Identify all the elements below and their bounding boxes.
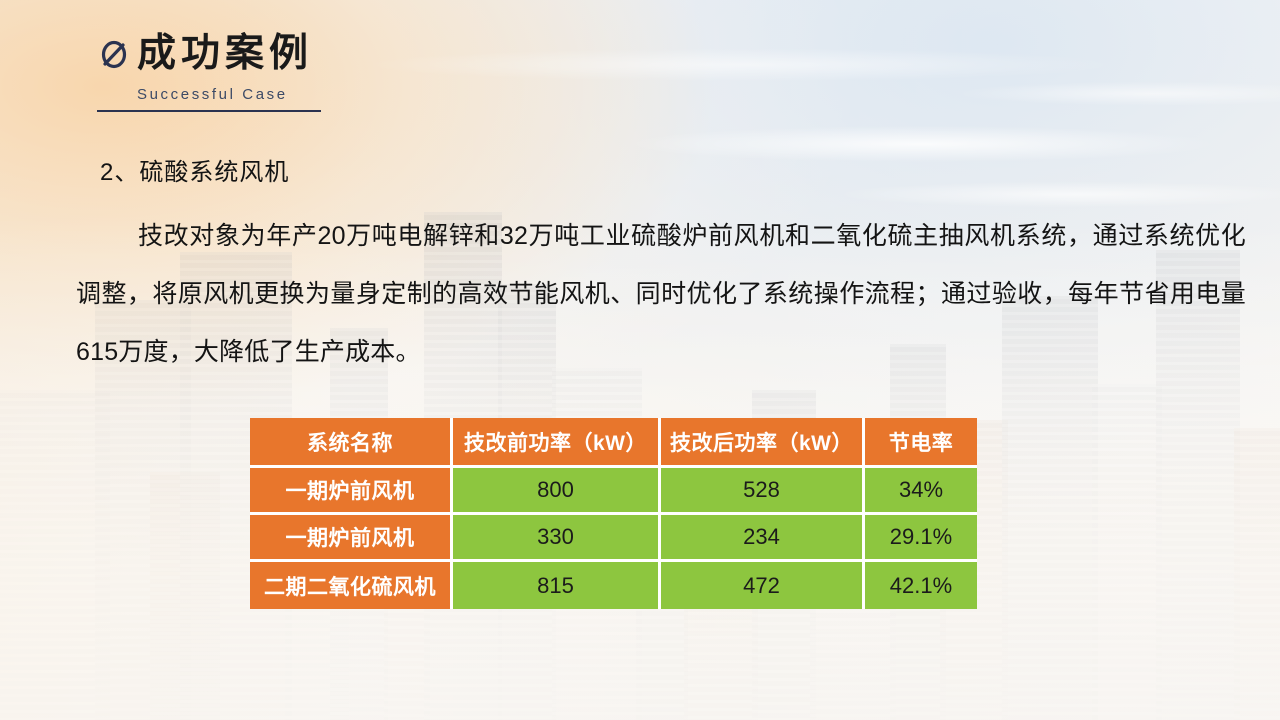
body-paragraph: 技改对象为年产20万吨电解锌和32万吨工业硫酸炉前风机和二氧化硫主抽风机系统，通…: [76, 207, 1246, 381]
column-header-saving-rate: 节电率: [865, 418, 977, 468]
column-header-power-after: 技改后功率（kW）: [661, 418, 865, 468]
cell-saving-rate: 34%: [865, 468, 977, 515]
slide-canvas: 成功案例 Successful Case 2、硫酸系统风机 技改对象为年产20万…: [0, 0, 1280, 720]
cell-system-name: 一期炉前风机: [250, 468, 453, 515]
page-title: 成功案例: [137, 34, 313, 75]
cell-system-name: 二期二氧化硫风机: [250, 562, 453, 609]
cell-power-after: 528: [661, 468, 865, 515]
page-subtitle: Successful Case: [137, 86, 321, 103]
cell-power-before: 815: [453, 562, 661, 609]
title-underline: [97, 110, 321, 112]
cell-system-name: 一期炉前风机: [250, 515, 453, 562]
cell-power-after: 472: [661, 562, 865, 609]
column-header-power-before: 技改前功率（kW）: [453, 418, 661, 468]
section-heading: 2、硫酸系统风机: [100, 152, 289, 187]
table-row: 二期二氧化硫风机 815 472 42.1%: [250, 562, 977, 609]
cell-saving-rate: 29.1%: [865, 515, 977, 562]
null-slash-icon: [97, 37, 131, 71]
table-header-row: 系统名称 技改前功率（kW） 技改后功率（kW） 节电率: [250, 418, 977, 468]
table-row: 一期炉前风机 800 528 34%: [250, 468, 977, 515]
cell-power-before: 800: [453, 468, 661, 515]
table-row: 一期炉前风机 330 234 29.1%: [250, 515, 977, 562]
slide-header: 成功案例 Successful Case: [97, 34, 321, 112]
cell-power-before: 330: [453, 515, 661, 562]
cell-power-after: 234: [661, 515, 865, 562]
cell-saving-rate: 42.1%: [865, 562, 977, 609]
results-table: 系统名称 技改前功率（kW） 技改后功率（kW） 节电率 一期炉前风机 800 …: [250, 418, 977, 609]
column-header-system-name: 系统名称: [250, 418, 453, 468]
title-row: 成功案例: [97, 34, 321, 75]
